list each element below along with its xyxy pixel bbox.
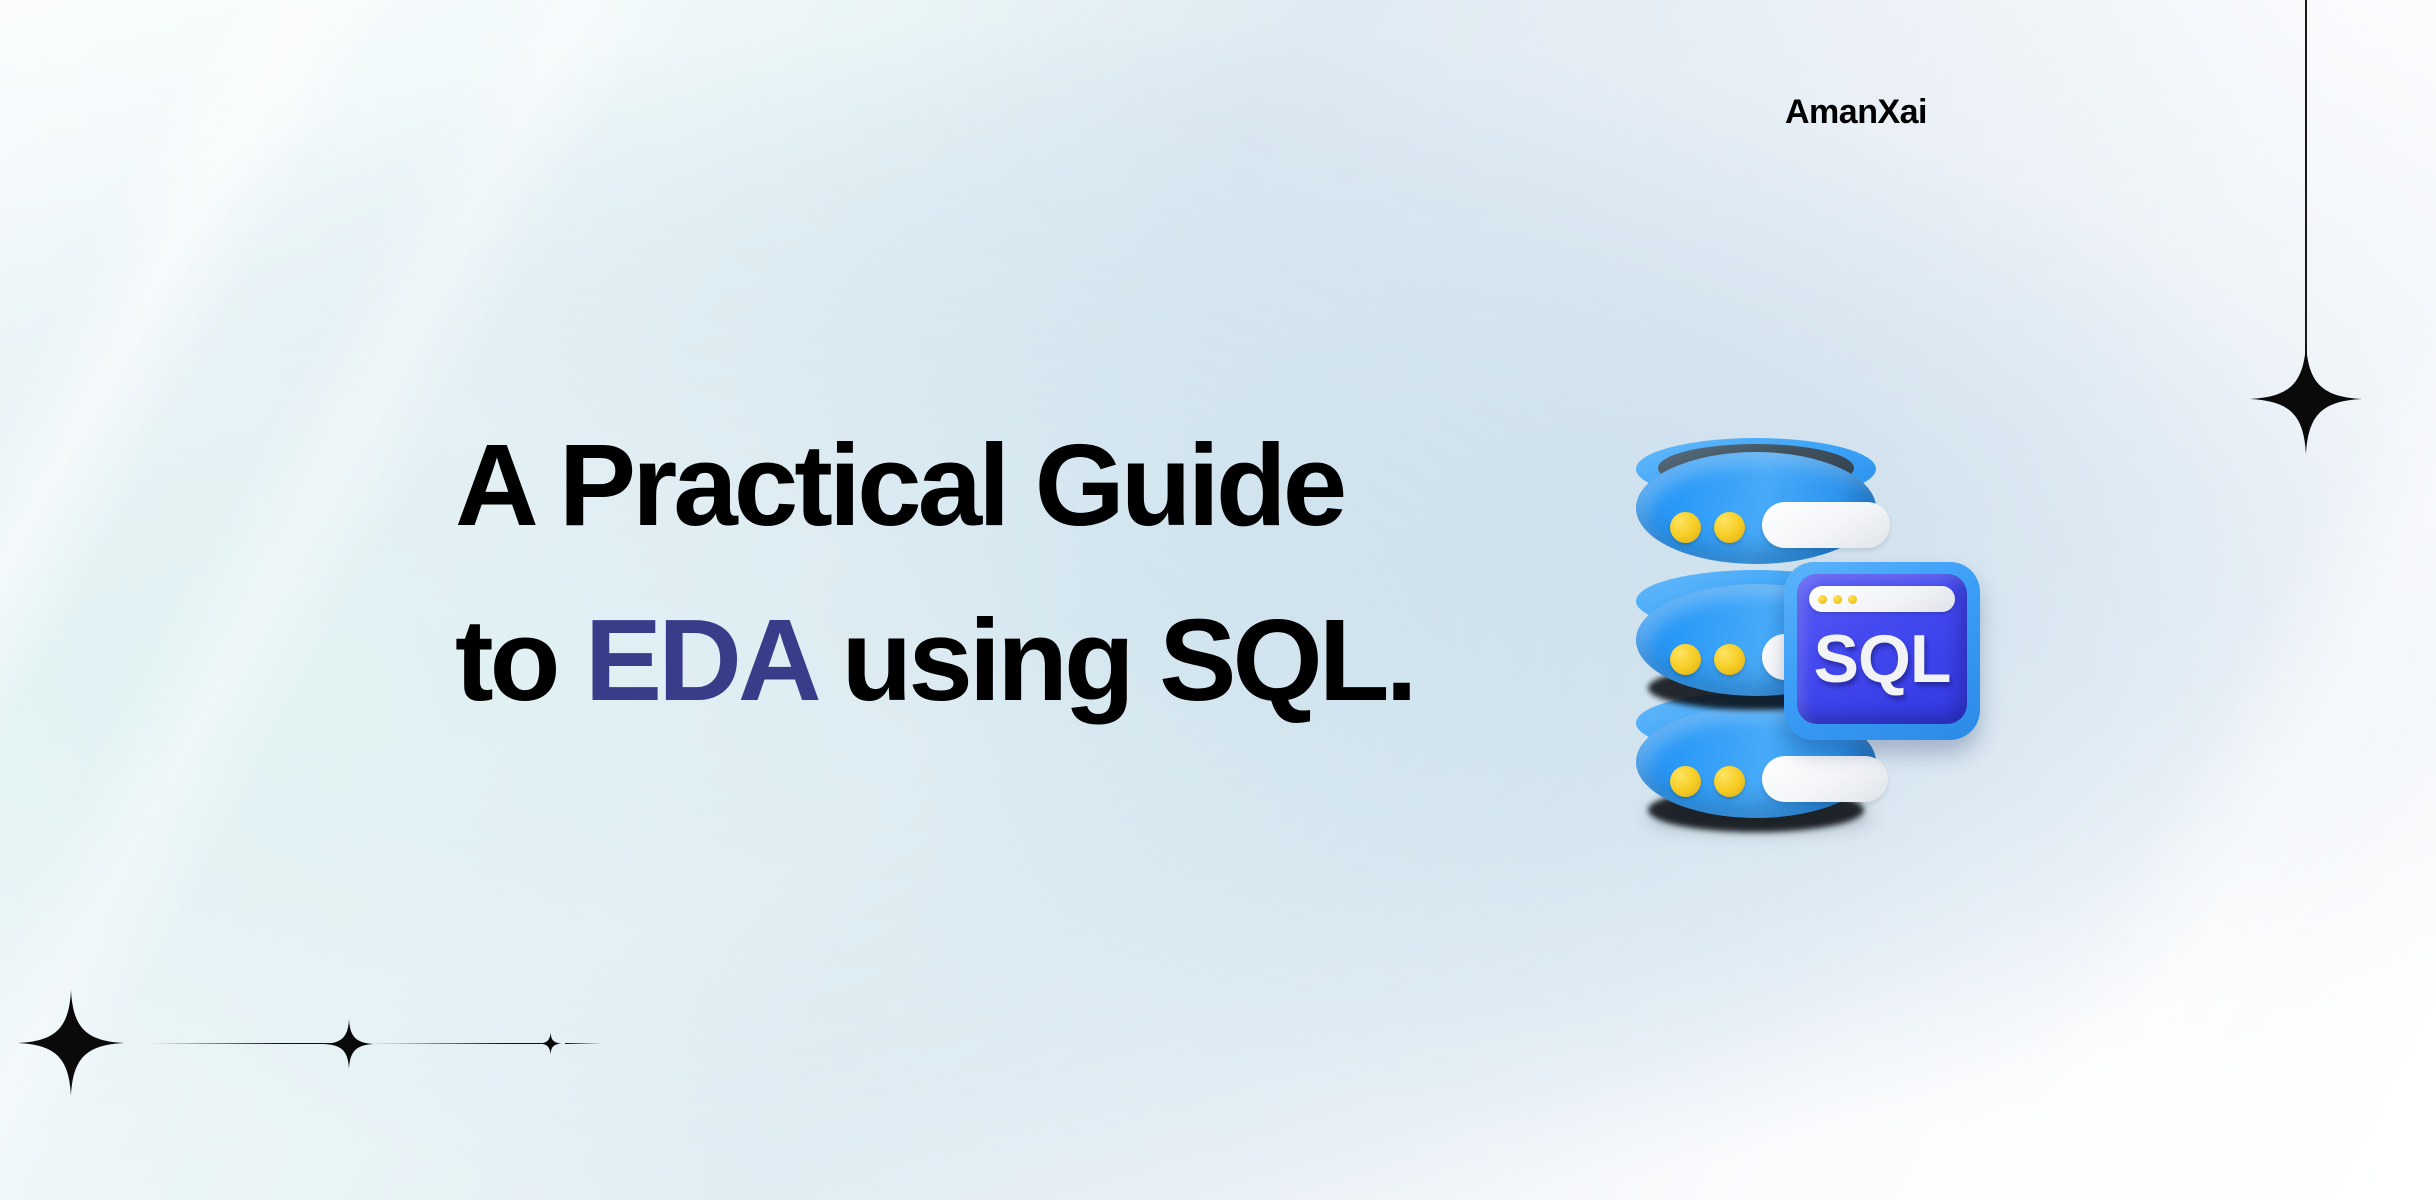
bottom-hairline-3 xyxy=(565,1043,603,1044)
bottom-hairline-1 xyxy=(150,1043,332,1044)
titlebar-dot-icon xyxy=(1818,595,1827,604)
disk-indicator-dot xyxy=(1670,766,1701,797)
disk-indicator-dot xyxy=(1714,512,1745,543)
disk-indicator-dot xyxy=(1714,644,1745,675)
disk-label-pill xyxy=(1762,756,1888,802)
sparkle-bottom-large xyxy=(18,990,124,1096)
disk-indicator-dot xyxy=(1670,512,1701,543)
headline-line-1: A Practical Guide xyxy=(455,398,1635,573)
sql-card-titlebar xyxy=(1809,586,1955,612)
sql-card-screen: SQL xyxy=(1797,574,1967,724)
sql-card-label: SQL xyxy=(1797,622,1967,696)
bottom-hairline-2 xyxy=(370,1043,546,1044)
sql-window-card: SQL xyxy=(1784,562,1980,740)
headline-line-1-text: A Practical Guide xyxy=(455,420,1343,550)
headline-line-2-prefix: to xyxy=(455,595,585,725)
brand-wordmark: AmanXai xyxy=(1785,93,1927,132)
page-title: A Practical Guide to EDA using SQL. xyxy=(455,398,1635,748)
poster-canvas: AmanXai A Practical Guide to EDA using S… xyxy=(0,0,2436,1200)
sparkle-right-large xyxy=(2250,343,2362,455)
disk-indicator-dot xyxy=(1670,644,1701,675)
database-disk-top xyxy=(1636,438,1876,578)
titlebar-dot-icon xyxy=(1848,595,1857,604)
headline-line-2: to EDA using SQL. xyxy=(455,573,1635,748)
headline-line-2-suffix: using SQL. xyxy=(813,595,1413,725)
disk-indicator-dot xyxy=(1714,766,1745,797)
titlebar-dot-icon xyxy=(1833,595,1842,604)
sparkle-bottom-medium xyxy=(324,1019,374,1069)
sql-database-illustration: SQL xyxy=(1612,420,2032,820)
headline-accent-eda: EDA xyxy=(585,595,814,725)
disk-label-pill xyxy=(1762,502,1890,548)
